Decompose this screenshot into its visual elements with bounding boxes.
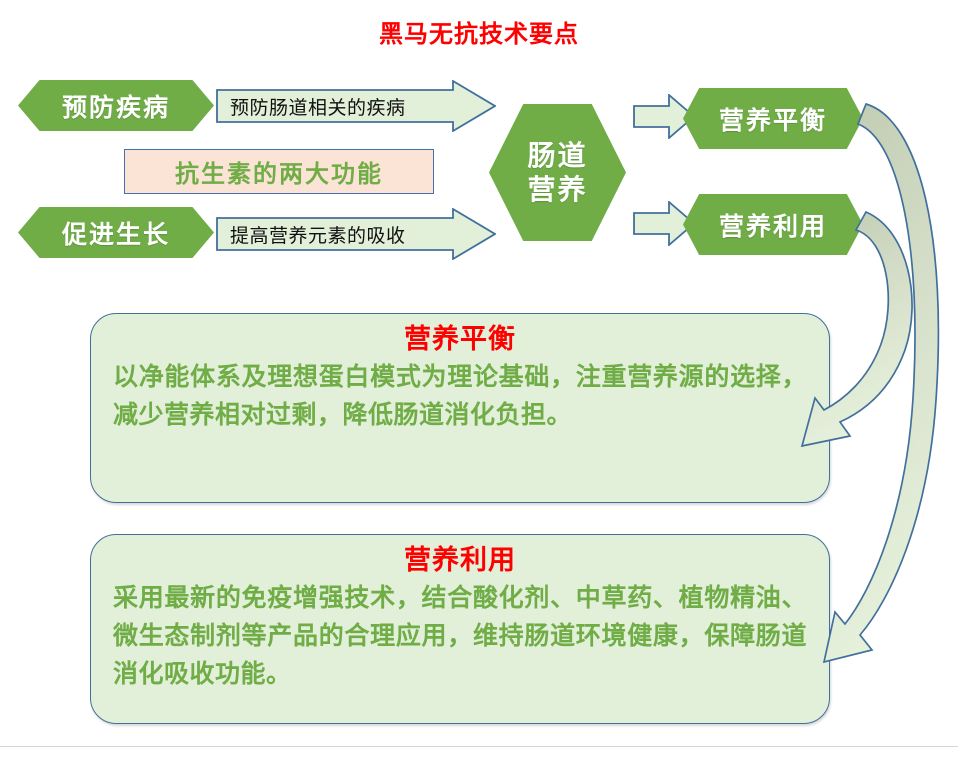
node-nutrition-utilization[interactable]: 营养利用 (683, 194, 863, 255)
node-nutrition-utilization-label: 营养利用 (719, 207, 827, 243)
node-intestinal-nutrition-line1: 肠道 (527, 139, 587, 173)
arrow-improve-nutrient-absorption-label: 提高营养元素的吸收 (230, 208, 445, 260)
node-intestinal-nutrition-label: 肠道 营养 (527, 139, 587, 207)
arrow-prevent-intestinal-disease-label: 预防肠道相关的疾病 (230, 80, 445, 132)
node-promote-growth-label: 促进生长 (62, 215, 170, 251)
node-nutrition-balance[interactable]: 营养平衡 (683, 88, 863, 149)
arrow-prevent-intestinal-disease[interactable]: 预防肠道相关的疾病 (216, 80, 496, 132)
callout-antibiotic-functions-label: 抗生素的两大功能 (175, 154, 383, 189)
slide-canvas: 黑马无抗技术要点 预防疾病 促进生长 预防肠道相关的疾病 提高营养元素的吸收 抗… (0, 0, 958, 757)
node-intestinal-nutrition-line2: 营养 (527, 173, 587, 207)
node-intestinal-nutrition[interactable]: 肠道 营养 (489, 104, 626, 241)
node-promote-growth[interactable]: 促进生长 (18, 207, 214, 258)
detail-box-nutrition-utilization[interactable]: 营养利用 采用最新的免疫增强技术，结合酸化剂、中草药、植物精油、微生态制剂等产品… (90, 534, 830, 724)
page-title: 黑马无抗技术要点 (0, 19, 958, 49)
node-prevent-disease-label: 预防疾病 (62, 88, 170, 124)
curved-arrow-icon-balance-to-utilization-box (824, 104, 938, 662)
detail-box-nutrition-balance-heading: 营养平衡 (113, 322, 807, 358)
detail-box-nutrition-balance-body: 以净能体系及理想蛋白模式为理论基础，注重营养源的选择，减少营养相对过剩，降低肠道… (113, 358, 807, 434)
node-nutrition-balance-label: 营养平衡 (719, 101, 827, 137)
detail-box-nutrition-utilization-heading: 营养利用 (113, 543, 807, 579)
arrow-improve-nutrient-absorption[interactable]: 提高营养元素的吸收 (216, 208, 496, 260)
detail-box-nutrition-utilization-body: 采用最新的免疫增强技术，结合酸化剂、中草药、植物精油、微生态制剂等产品的合理应用… (113, 579, 807, 693)
callout-antibiotic-functions[interactable]: 抗生素的两大功能 (124, 149, 434, 194)
detail-box-nutrition-balance[interactable]: 营养平衡 以净能体系及理想蛋白模式为理论基础，注重营养源的选择，减少营养相对过剩… (90, 313, 830, 503)
node-prevent-disease[interactable]: 预防疾病 (18, 80, 214, 131)
bottom-divider (0, 746, 958, 747)
